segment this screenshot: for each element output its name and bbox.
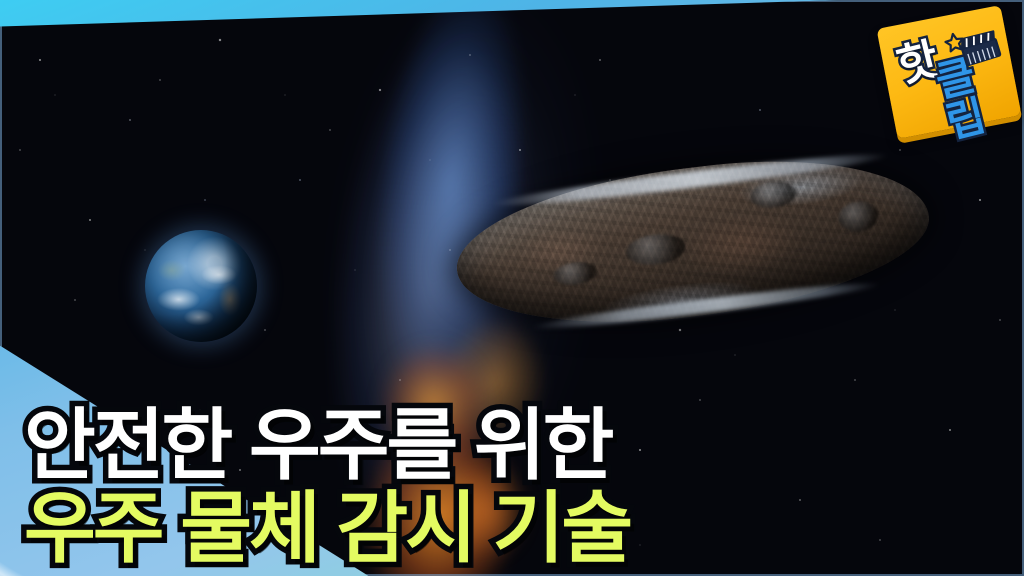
asteroid-body	[448, 140, 937, 345]
title-block: 안전한 우주를 위한 우주 물체 감시 기술	[24, 407, 630, 566]
earth-terminator-shadow	[145, 230, 257, 342]
video-thumbnail: 핫 클립 안전한 우주를 위한 우주 물체 감시 기술	[0, 0, 1024, 576]
title-line-2: 우주 물체 감시 기술	[24, 490, 630, 566]
title-line-1: 안전한 우주를 위한	[24, 407, 630, 483]
hot-clip-logo[interactable]: 핫 클립	[876, 5, 1021, 139]
earth	[145, 230, 257, 342]
